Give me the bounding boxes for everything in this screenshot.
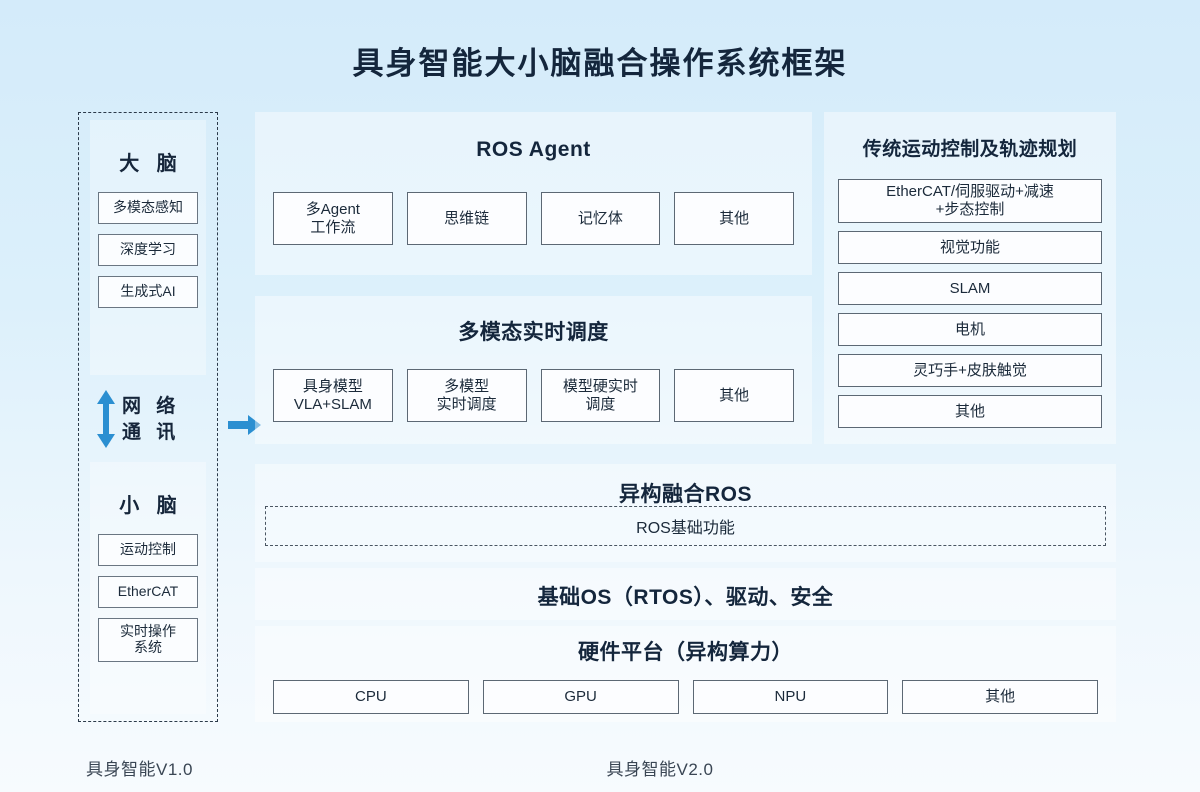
scheduling-chip-hard-realtime[interactable]: 模型硬实时 调度 <box>541 369 661 422</box>
scheduling-chip-multi-model-realtime[interactable]: 多模型 实时调度 <box>407 369 527 422</box>
ros-agent-chip-memory[interactable]: 记忆体 <box>541 192 661 245</box>
network-communication-block: 网 络通 讯 <box>90 383 210 455</box>
motion-item-ethercat-servo[interactable]: EtherCAT/伺服驱动+减速 +步态控制 <box>838 179 1102 223</box>
cerebellum-item-list: 运动控制 EtherCAT 实时操作 系统 <box>90 534 206 662</box>
scheduling-chip-embodied-model-vla-slam[interactable]: 具身模型 VLA+SLAM <box>273 369 393 422</box>
ros-agent-chip-row: 多Agent 工作流 思维链 记忆体 其他 <box>255 192 812 245</box>
hardware-chip-cpu[interactable]: CPU <box>273 680 469 714</box>
ros-agent-chip-chain-of-thought[interactable]: 思维链 <box>407 192 527 245</box>
motion-control-item-list: EtherCAT/伺服驱动+减速 +步态控制 视觉功能 SLAM 电机 灵巧手+… <box>824 179 1116 428</box>
brain-panel: 大 脑 多模态感知 深度学习 生成式AI <box>90 120 206 375</box>
page-title: 具身智能大小脑融合操作系统框架 <box>0 38 1200 83</box>
base-os-title: 基础OS（RTOS）、驱动、安全 <box>255 568 1116 611</box>
brain-item-generative-ai[interactable]: 生成式AI <box>98 276 198 308</box>
motion-item-vision[interactable]: 视觉功能 <box>838 231 1102 264</box>
scheduling-title: 多模态实时调度 <box>255 296 812 346</box>
hardware-chip-row: CPU GPU NPU 其他 <box>255 680 1116 714</box>
base-os-panel: 基础OS（RTOS）、驱动、安全 <box>255 568 1116 620</box>
motion-item-dexterous-hand[interactable]: 灵巧手+皮肤触觉 <box>838 354 1102 387</box>
ros-base-functions-box[interactable]: ROS基础功能 <box>265 506 1106 546</box>
multimodal-scheduling-panel: 多模态实时调度 具身模型 VLA+SLAM 多模型 实时调度 模型硬实时 调度 … <box>255 296 812 444</box>
motion-control-title: 传统运动控制及轨迹规划 <box>824 112 1116 161</box>
cerebellum-item-ethercat[interactable]: EtherCAT <box>98 576 198 608</box>
brain-item-list: 多模态感知 深度学习 生成式AI <box>90 192 206 308</box>
network-communication-label: 网 络通 讯 <box>122 393 180 445</box>
motion-item-motor[interactable]: 电机 <box>838 313 1102 346</box>
ros-agent-chip-multi-agent-workflow[interactable]: 多Agent 工作流 <box>273 192 393 245</box>
ros-agent-title: ROS Agent <box>255 112 812 162</box>
brain-item-multimodal-perception[interactable]: 多模态感知 <box>98 192 198 224</box>
cerebellum-item-motion-control[interactable]: 运动控制 <box>98 534 198 566</box>
cerebellum-panel: 小 脑 运动控制 EtherCAT 实时操作 系统 <box>90 462 206 714</box>
hardware-chip-npu[interactable]: NPU <box>693 680 889 714</box>
heterogeneous-ros-title: 异构融合ROS <box>255 464 1116 508</box>
scheduling-chip-other[interactable]: 其他 <box>674 369 794 422</box>
cerebellum-heading: 小 脑 <box>90 462 206 518</box>
double-vertical-arrow-icon <box>94 389 118 449</box>
cerebellum-item-rtos[interactable]: 实时操作 系统 <box>98 618 198 662</box>
hardware-chip-gpu[interactable]: GPU <box>483 680 679 714</box>
hardware-platform-panel: 硬件平台（异构算力） CPU GPU NPU 其他 <box>255 626 1116 722</box>
caption-v2: 具身智能V2.0 <box>0 755 1200 780</box>
hardware-platform-title: 硬件平台（异构算力） <box>255 626 1116 666</box>
motion-control-panel: 传统运动控制及轨迹规划 EtherCAT/伺服驱动+减速 +步态控制 视觉功能 … <box>824 112 1116 444</box>
motion-item-other[interactable]: 其他 <box>838 395 1102 428</box>
ros-agent-chip-other[interactable]: 其他 <box>674 192 794 245</box>
hardware-chip-other[interactable]: 其他 <box>902 680 1098 714</box>
brain-heading: 大 脑 <box>90 120 206 176</box>
ros-agent-panel: ROS Agent 多Agent 工作流 思维链 记忆体 其他 <box>255 112 812 275</box>
brain-item-deep-learning[interactable]: 深度学习 <box>98 234 198 266</box>
scheduling-chip-row: 具身模型 VLA+SLAM 多模型 实时调度 模型硬实时 调度 其他 <box>255 369 812 422</box>
motion-item-slam[interactable]: SLAM <box>838 272 1102 305</box>
